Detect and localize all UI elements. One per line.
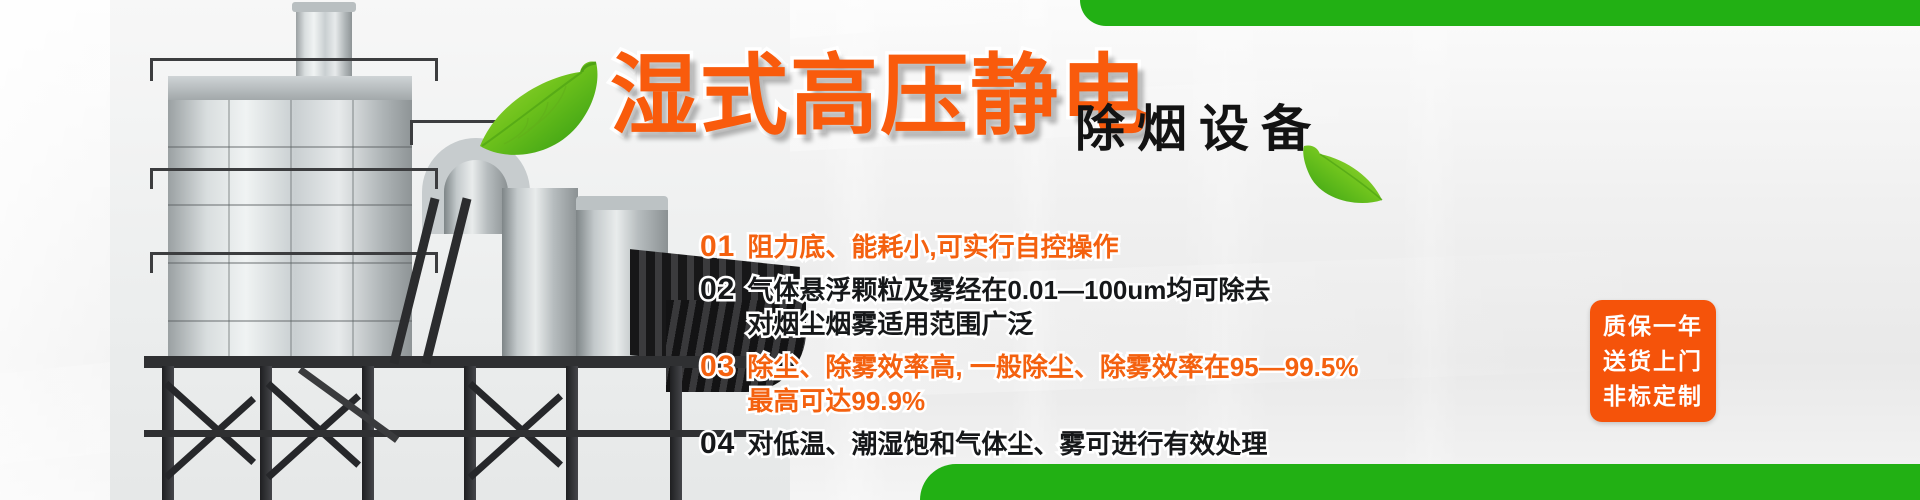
page-title: 湿式高压静电 [610,52,1150,140]
feature-text: 阻力底、能耗小,可实行自控操作 [747,230,1118,264]
feature-number: 01 [700,230,735,264]
green-band-top [1080,0,1920,26]
feature-list: 01 阻力底、能耗小,可实行自控操作 02 气体悬浮颗粒及雾经在0.01—100… [700,230,1580,467]
badge-line-1: 质保一年 [1603,309,1703,344]
feature-line: 对低温、潮湿饱和气体尘、雾可进行有效处理 [747,429,1267,459]
leaf-icon [470,58,602,173]
feature-text: 对低温、潮湿饱和气体尘、雾可进行有效处理 [747,427,1267,461]
feature-line: 气体悬浮颗粒及雾经在0.01—100um均可除去 [747,275,1270,305]
feature-line: 阻力底、能耗小,可实行自控操作 [747,232,1118,262]
list-item: 01 阻力底、能耗小,可实行自控操作 [700,230,1580,264]
feature-text: 气体悬浮颗粒及雾经在0.01—100um均可除去 对烟尘烟雾适用范围广泛 [747,273,1270,341]
service-badge[interactable]: 质保一年 送货上门 非标定制 [1590,300,1716,422]
feature-line: 除尘、除雾效率高, 一般除尘、除雾效率在95—99.5% [747,352,1358,382]
feature-line: 对烟尘烟雾适用范围广泛 [747,307,1270,341]
feature-text: 除尘、除雾效率高, 一般除尘、除雾效率在95—99.5% 最高可达99.9% [747,350,1358,418]
feature-number: 02 [700,273,735,307]
feature-line: 最高可达99.9% [747,384,1358,418]
feature-number: 03 [700,350,735,384]
list-item: 03 除尘、除雾效率高, 一般除尘、除雾效率在95—99.5% 最高可达99.9… [700,350,1580,418]
badge-line-2: 送货上门 [1603,344,1703,379]
page-subtitle: 除烟设备 [1075,104,1323,154]
feature-number: 04 [700,427,735,461]
list-item: 04 对低温、潮湿饱和气体尘、雾可进行有效处理 [700,427,1580,461]
badge-line-3: 非标定制 [1603,379,1703,414]
green-band-bottom [920,464,1920,500]
promo-banner: 湿式高压静电 除烟设备 01 阻力底、能耗小,可实行自控操作 02 气体悬浮颗粒… [0,0,1920,500]
list-item: 02 气体悬浮颗粒及雾经在0.01—100um均可除去 对烟尘烟雾适用范围广泛 [700,273,1580,341]
